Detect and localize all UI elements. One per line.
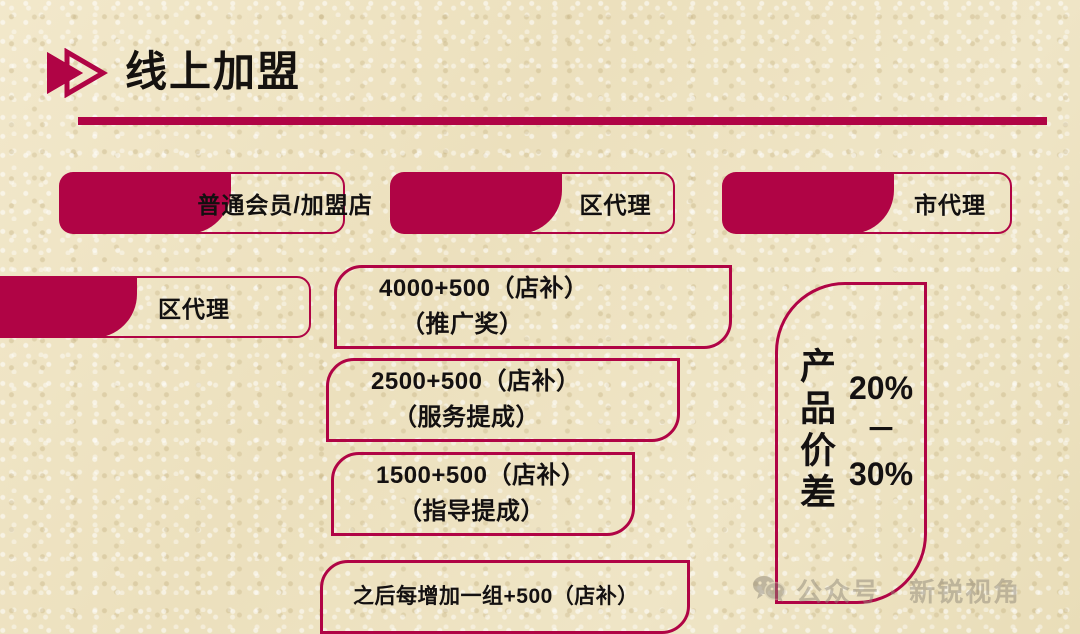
payout-card-line-secondary: （指导提成）: [376, 494, 632, 530]
tier-badge-city[interactable]: 市代理: [722, 172, 1012, 234]
payout-card[interactable]: 之后每增加一组+500（店补）: [320, 560, 690, 634]
payout-card[interactable]: 1500+500（店补） （指导提成）: [331, 452, 635, 536]
tier-badge-label: 市代理: [778, 172, 1012, 234]
payout-card-line-primary: 之后每增加一组+500（店补）: [353, 579, 687, 615]
tier-badge-district-secondary[interactable]: 区代理: [0, 276, 311, 338]
price-range-dash: －: [866, 411, 896, 451]
page-title: 线上加盟: [125, 44, 301, 100]
double-triangle-icon: [45, 48, 117, 98]
price-range-high: 20%: [849, 365, 913, 411]
product-price-difference-box[interactable]: 产品价差 20% － 30%: [775, 282, 927, 604]
price-difference-label: 产品价差: [792, 347, 838, 515]
watermark-text: 公众号 · 新锐视角: [796, 572, 1021, 609]
tier-badge-label: 区代理: [21, 276, 311, 338]
payout-card-line-secondary: （服务提成）: [371, 400, 677, 436]
slide-header: 线上加盟: [0, 0, 1080, 140]
payout-card-line-primary: 4000+500（店补）: [379, 271, 729, 307]
payout-card-line-secondary: （推广奖）: [379, 307, 729, 343]
tier-badge-label: 普通会员/加盟店: [115, 172, 345, 234]
watermark: 公众号 · 新锐视角: [752, 572, 1021, 609]
price-difference-range: 20% － 30%: [840, 365, 922, 497]
tier-badge-district[interactable]: 区代理: [390, 172, 675, 234]
wechat-icon: [752, 574, 786, 607]
price-range-low: 30%: [849, 451, 913, 497]
payout-card-line-primary: 2500+500（店补）: [371, 364, 677, 400]
title-divider: [78, 117, 1047, 125]
payout-card-line-primary: 1500+500（店补）: [376, 458, 632, 494]
slide-canvas: 线上加盟 普通会员/加盟店 区代理 市代理 区代理 4000+500（店补） （…: [0, 0, 1080, 634]
tier-badge-member[interactable]: 普通会员/加盟店: [59, 172, 345, 234]
payout-card[interactable]: 2500+500（店补） （服务提成）: [326, 358, 680, 442]
tier-badge-label: 区代理: [446, 172, 675, 234]
payout-card[interactable]: 4000+500（店补） （推广奖）: [334, 265, 732, 349]
